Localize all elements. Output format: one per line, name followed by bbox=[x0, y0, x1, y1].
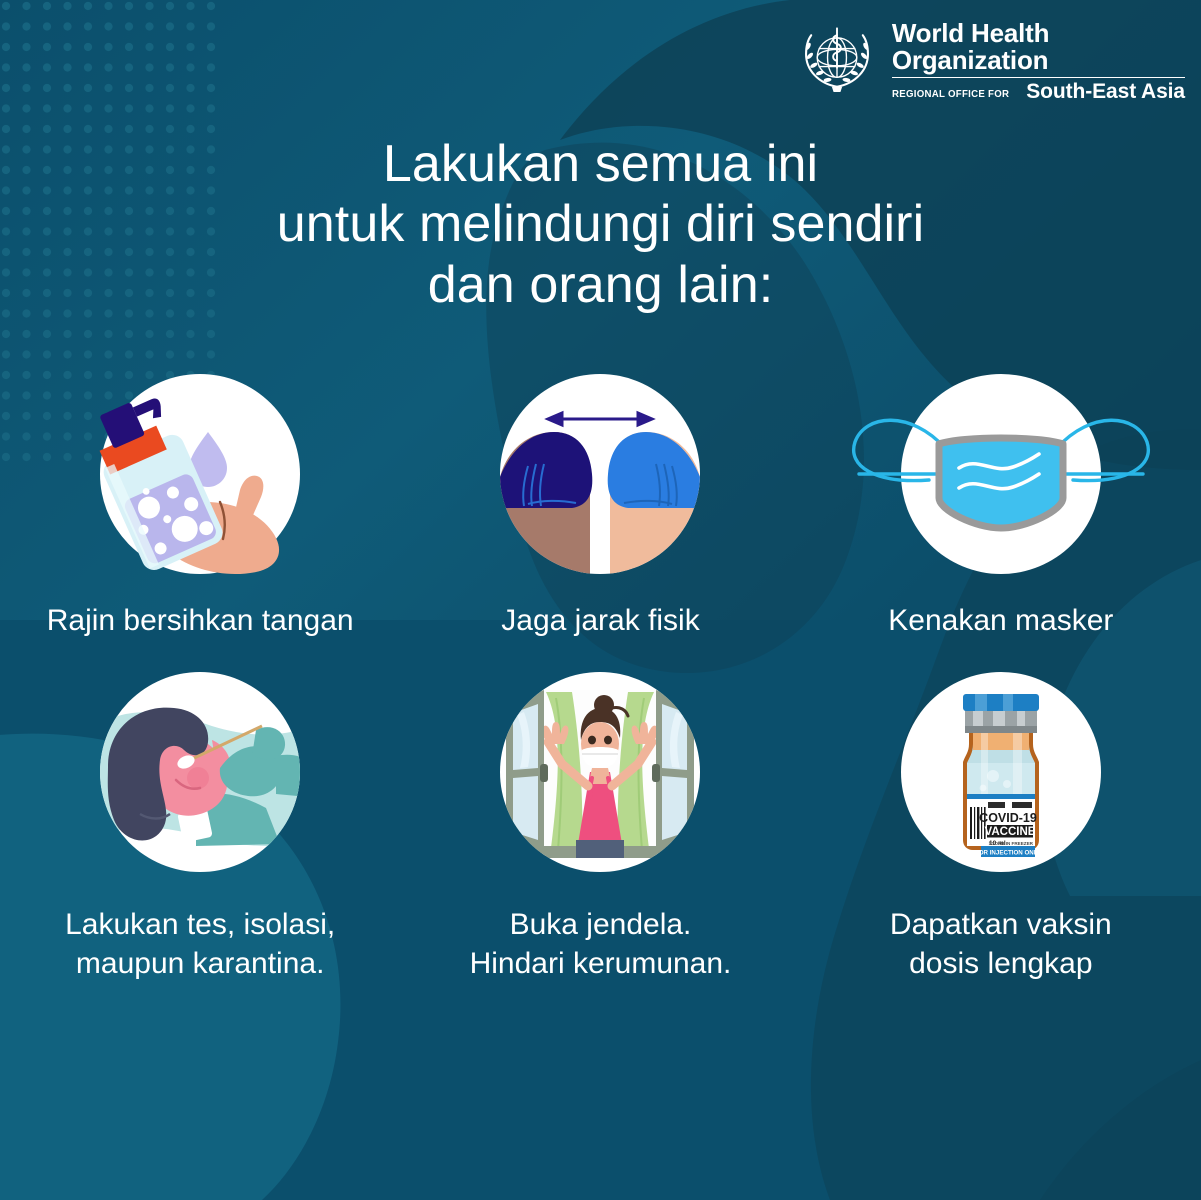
measure-hand-hygiene: Rajin bersihkan tangan bbox=[0, 370, 400, 640]
measures-row-1: Rajin bersihkan tangan bbox=[0, 370, 1201, 640]
who-logo-line2: Organization bbox=[892, 47, 1185, 73]
measure-caption: Kenakan masker bbox=[888, 602, 1113, 640]
who-covid-prevention-poster: World Health Organization REGIONAL OFFIC… bbox=[0, 0, 1201, 1200]
prevention-measures-grid: Rajin bersihkan tangan bbox=[0, 370, 1201, 983]
measure-wear-mask: Kenakan masker bbox=[801, 370, 1201, 640]
open-window-badge bbox=[480, 668, 720, 884]
measure-get-vaccinated: COVID-19 VACCINE 10 ml STORE IN FREEZER … bbox=[801, 668, 1201, 983]
vaccine-vial-badge: COVID-19 VACCINE 10 ml STORE IN FREEZER … bbox=[881, 668, 1121, 884]
face-mask-badge bbox=[881, 370, 1121, 586]
title-line-1: Lakukan semua ini bbox=[0, 134, 1201, 194]
measures-row-2: Lakukan tes, isolasi, maupun karantina. bbox=[0, 668, 1201, 983]
title-line-2: untuk melindungi diri sendiri bbox=[0, 194, 1201, 254]
who-region-label: South-East Asia bbox=[1026, 81, 1185, 102]
hand-sanitizer-icon bbox=[80, 370, 320, 586]
title-line-3: dan orang lain: bbox=[0, 255, 1201, 315]
measure-test-isolate-quarantine: Lakukan tes, isolasi, maupun karantina. bbox=[0, 668, 400, 983]
measure-open-window: Buka jendela. Hindari kerumunan. bbox=[400, 668, 800, 983]
hand-sanitizer-badge bbox=[80, 370, 320, 586]
measure-caption: Lakukan tes, isolasi, maupun karantina. bbox=[65, 906, 335, 983]
face-mask-icon bbox=[881, 370, 1121, 586]
vial-product-line1: COVID-19 bbox=[979, 811, 1037, 825]
vial-storage-note: STORE IN FREEZER bbox=[988, 841, 1033, 846]
who-logo-divider bbox=[892, 77, 1185, 79]
who-logo-text: World Health Organization REGIONAL OFFIC… bbox=[892, 20, 1185, 103]
poster-title: Lakukan semua ini untuk melindungi diri … bbox=[0, 134, 1201, 315]
vial-product-line2: VACCINE bbox=[984, 826, 1035, 838]
who-emblem-icon bbox=[794, 18, 880, 104]
measure-caption: Dapatkan vaksin dosis lengkap bbox=[890, 906, 1112, 983]
regional-office-label: REGIONAL OFFICE FOR bbox=[892, 89, 1009, 103]
measure-caption: Jaga jarak fisik bbox=[501, 602, 699, 640]
vaccine-vial-icon: COVID-19 VACCINE 10 ml STORE IN FREEZER … bbox=[881, 668, 1121, 884]
who-logo: World Health Organization REGIONAL OFFIC… bbox=[794, 18, 1185, 104]
covid-test-swab-icon bbox=[80, 668, 320, 884]
vial-usage-band: FOR INJECTION ONLY bbox=[975, 850, 1042, 857]
measure-caption: Rajin bersihkan tangan bbox=[47, 602, 354, 640]
open-window-icon bbox=[480, 668, 720, 884]
physical-distancing-badge bbox=[480, 370, 720, 586]
measure-caption: Buka jendela. Hindari kerumunan. bbox=[470, 906, 732, 983]
who-logo-line1: World Health bbox=[892, 20, 1185, 46]
measure-physical-distancing: Jaga jarak fisik bbox=[400, 370, 800, 640]
physical-distancing-icon bbox=[480, 370, 720, 586]
covid-test-swab-badge bbox=[80, 668, 320, 884]
